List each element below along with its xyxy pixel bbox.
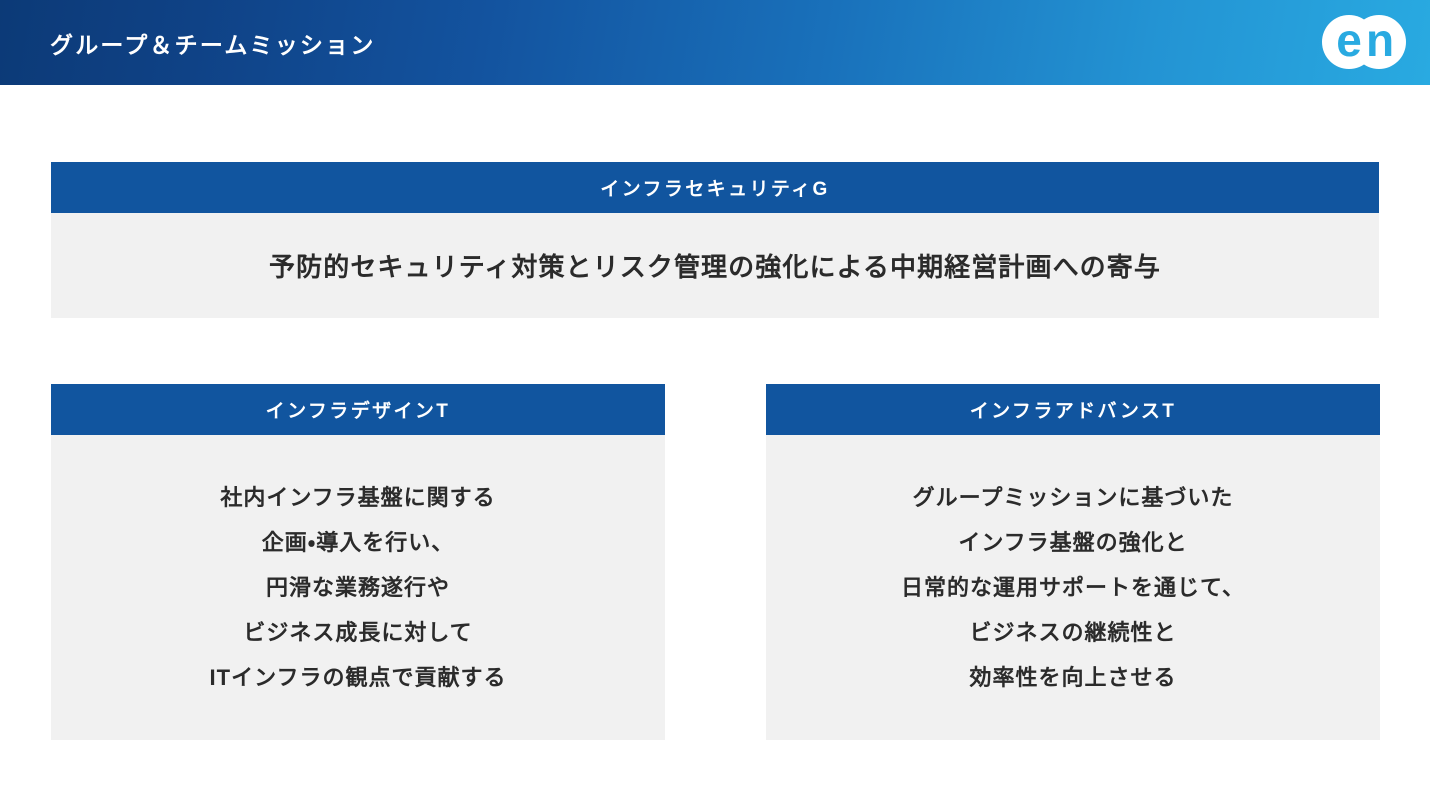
en-logo-icon: e n [1316, 8, 1412, 76]
mission-line: 効率性を向上させる [969, 655, 1176, 700]
team-mission-card-advance: インフラアドバンスT グループミッションに基づいた インフラ基盤の強化と 日常的… [766, 384, 1380, 740]
mission-line: ビジネスの継続性と [969, 610, 1176, 655]
group-mission-card: インフラセキュリティG 予防的セキュリティ対策とリスク管理の強化による中期経営計… [51, 162, 1379, 318]
team-mission-card-design-text: 社内インフラ基盤に関する 企画・導入を行い、 円滑な業務遂行や ビジネス成長に対… [51, 435, 665, 740]
page-header-band: グループ＆チームミッション e n [0, 0, 1430, 85]
en-logo-letter-e: e [1336, 14, 1362, 66]
mission-line: グループミッションに基づいた [913, 475, 1234, 520]
team-mission-card-advance-title: インフラアドバンスT [766, 384, 1380, 435]
en-logo-letter-n: n [1366, 14, 1394, 66]
team-mission-card-design-title: インフラデザインT [51, 384, 665, 435]
mission-line: 日常的な運用サポートを通じて、 [901, 565, 1245, 610]
mission-line: ITインフラの観点で貢献する [210, 655, 507, 700]
mission-line: 円滑な業務遂行や [266, 565, 450, 610]
team-mission-card-design: インフラデザインT 社内インフラ基盤に関する 企画・導入を行い、 円滑な業務遂行… [51, 384, 665, 740]
group-mission-card-title: インフラセキュリティG [51, 162, 1379, 213]
mission-line: インフラ基盤の強化と [958, 520, 1187, 565]
page-title: グループ＆チームミッション [50, 0, 376, 85]
en-logo: e n [1316, 8, 1412, 76]
mission-line: ビジネス成長に対して [243, 610, 472, 655]
group-mission-card-text: 予防的セキュリティ対策とリスク管理の強化による中期経営計画への寄与 [51, 213, 1379, 318]
team-mission-card-advance-text: グループミッションに基づいた インフラ基盤の強化と 日常的な運用サポートを通じて… [766, 435, 1380, 740]
mission-line: 企画・導入を行い、 [262, 520, 454, 565]
mission-line: 社内インフラ基盤に関する [220, 475, 495, 520]
